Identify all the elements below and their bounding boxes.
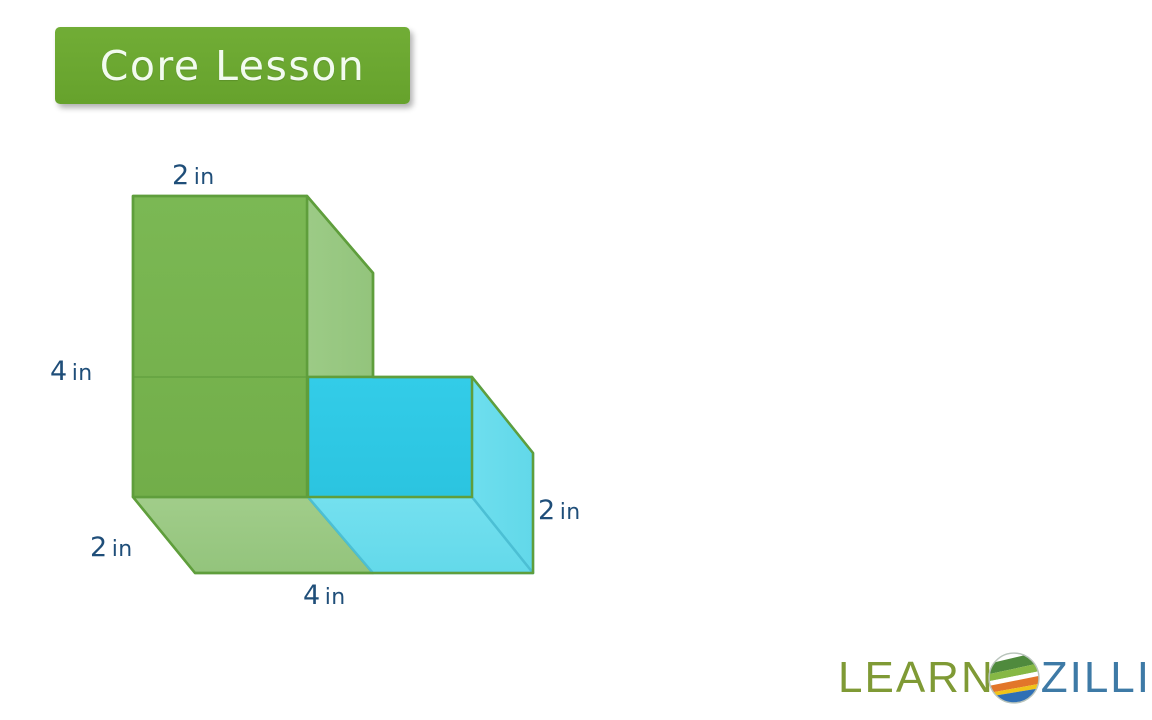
dimension-label-right: 2in — [538, 495, 581, 526]
dimension-label-depth: 2in — [90, 532, 133, 563]
logo-learn-text: LEARN — [838, 656, 995, 700]
dimension-value-right: 2 — [538, 495, 556, 526]
dimension-value-depth: 2 — [90, 532, 108, 563]
dimension-value-top: 2 — [172, 160, 190, 191]
dimension-unit-left: in — [72, 361, 93, 386]
cyan-prism-front-face — [308, 377, 472, 497]
slide-canvas: Core Lesson — [0, 0, 1152, 720]
logo-zillion-text: ZILLION — [1041, 656, 1152, 700]
learnzillion-logo: LEARN ZILLION — [838, 648, 1152, 708]
dimension-value-bottom: 4 — [303, 580, 321, 611]
dimension-unit-right: in — [560, 500, 581, 525]
composite-prism-figure: 2in 4in 2in 4in 2in — [0, 0, 1152, 720]
dimension-value-left: 4 — [50, 356, 68, 387]
dimension-unit-bottom: in — [325, 585, 346, 610]
dimension-label-left: 4in — [50, 356, 93, 387]
dimension-label-bottom: 4in — [303, 580, 346, 611]
green-prism-right-face — [307, 196, 373, 377]
globe-icon — [985, 649, 1043, 707]
dimension-unit-depth: in — [112, 537, 133, 562]
green-prism-front-face — [133, 196, 307, 497]
dimension-unit-top: in — [194, 165, 215, 190]
composite-prism-svg — [0, 0, 1152, 720]
dimension-label-top: 2in — [172, 160, 215, 191]
